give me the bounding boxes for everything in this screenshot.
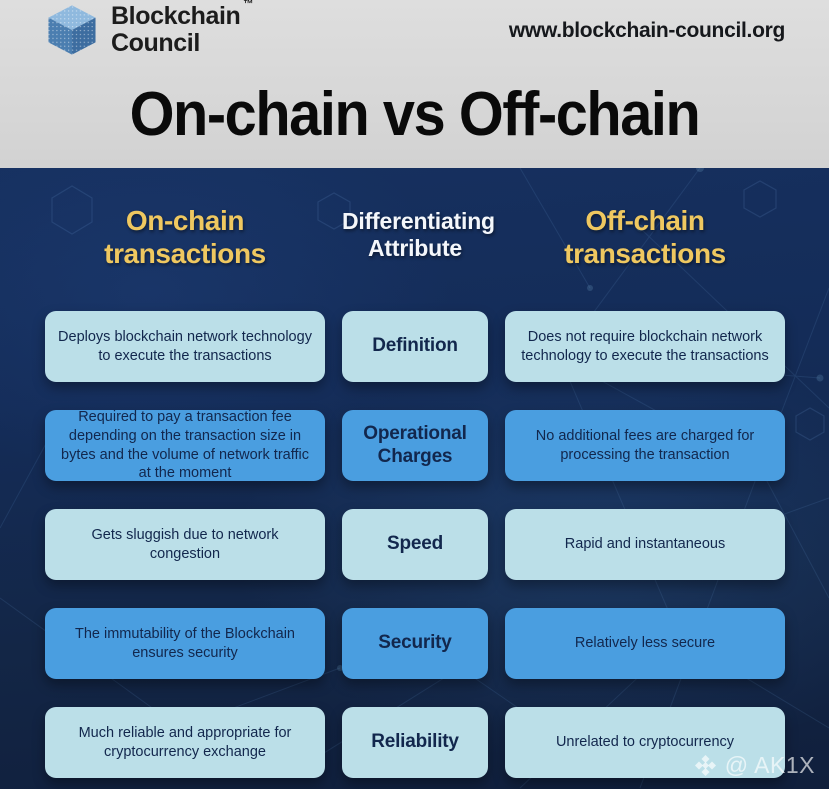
table-row: Gets sluggish due to network congestion … (0, 509, 829, 608)
trademark-symbol: ™ (243, 0, 253, 10)
brand-logo: Blockchain Council ™ (44, 2, 240, 58)
page-title: On-chain vs Off-chain (29, 80, 800, 150)
attribute-cell-line1: Operational (363, 423, 466, 444)
on-chain-cell: Deploys blockchain network technology to… (45, 311, 325, 382)
attribute-cell: Security (342, 608, 488, 679)
off-chain-cell: Relatively less secure (505, 608, 785, 679)
column-heading-off-chain-line2: transactions (505, 237, 785, 270)
attribute-cell: Speed (342, 509, 488, 580)
attribute-cell: Definition (342, 311, 488, 382)
brand-line-1: Blockchain (111, 4, 240, 29)
column-heading-on-chain-line2: transactions (45, 237, 325, 270)
off-chain-cell: Does not require blockchain network tech… (505, 311, 785, 382)
brand-line-2: Council (111, 31, 240, 56)
attribute-cell-line2: Charges (378, 446, 453, 467)
column-headings: On-chain transactions Differentiating At… (0, 204, 829, 304)
comparison-board: On-chain transactions Differentiating At… (0, 168, 829, 789)
website-url: www.blockchain-council.org (509, 19, 785, 43)
table-row: Required to pay a transaction fee depend… (0, 410, 829, 509)
attribute-cell: Reliability (342, 707, 488, 778)
off-chain-cell: Rapid and instantaneous (505, 509, 785, 580)
table-row: Deploys blockchain network technology to… (0, 311, 829, 410)
on-chain-cell: Gets sluggish due to network congestion (45, 509, 325, 580)
infographic-root: Blockchain Council ™ www.blockchain-coun… (0, 0, 829, 789)
column-heading-on-chain-line1: On-chain (45, 204, 325, 237)
column-heading-attribute-line2: Attribute (342, 235, 488, 262)
on-chain-cell: Required to pay a transaction fee depend… (45, 410, 325, 481)
on-chain-cell: The immutability of the Blockchain ensur… (45, 608, 325, 679)
on-chain-cell: Much reliable and appropriate for crypto… (45, 707, 325, 778)
table-row: The immutability of the Blockchain ensur… (0, 608, 829, 707)
header-band: Blockchain Council ™ www.blockchain-coun… (0, 0, 829, 168)
off-chain-cell: Unrelated to cryptocurrency (505, 707, 785, 778)
column-heading-on-chain: On-chain transactions (45, 204, 325, 270)
attribute-cell: Operational Charges (342, 410, 488, 481)
off-chain-cell: No additional fees are charged for proce… (505, 410, 785, 481)
column-heading-off-chain-line1: Off-chain (505, 204, 785, 237)
column-heading-attribute: Differentiating Attribute (342, 208, 488, 262)
table-row: Much reliable and appropriate for crypto… (0, 707, 829, 789)
blockchain-cube-icon (44, 2, 100, 58)
comparison-rows: Deploys blockchain network technology to… (0, 311, 829, 789)
column-heading-attribute-line1: Differentiating (342, 208, 488, 235)
brand-wordmark: Blockchain Council ™ (111, 4, 240, 56)
column-heading-off-chain: Off-chain transactions (505, 204, 785, 270)
